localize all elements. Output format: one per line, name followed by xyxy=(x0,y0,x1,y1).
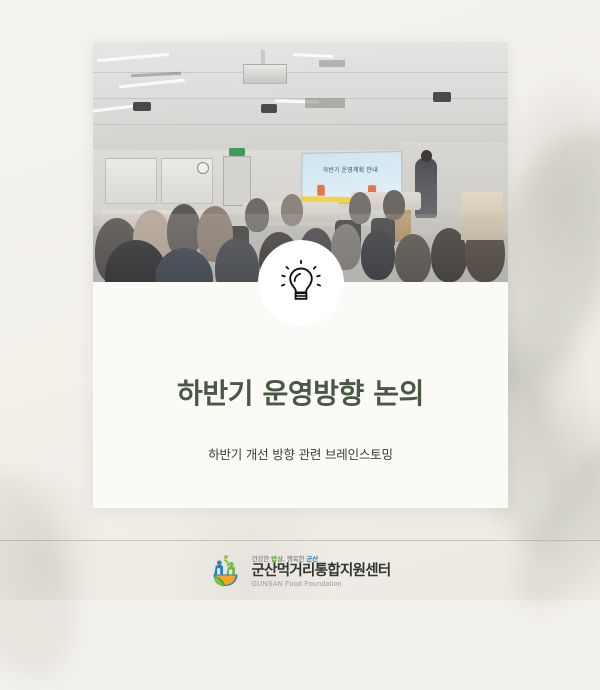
logo-tagline: 건강한 밥상, 행복한 군산 xyxy=(251,553,390,563)
ceiling-speaker-icon xyxy=(261,104,277,113)
presenter-head xyxy=(421,150,432,162)
exit-sign-icon xyxy=(229,148,245,156)
page-subtitle: 하반기 개선 방향 관련 브레인스토밍 xyxy=(208,444,393,463)
slide-title: 하반기 운영계획 안내 xyxy=(302,165,401,175)
wall-clock-icon xyxy=(197,162,209,174)
ceiling-speaker-icon xyxy=(433,92,451,102)
organization-name: 군산먹거리통합지원센터 xyxy=(251,564,390,579)
ceiling-speaker-icon xyxy=(133,102,151,111)
footer-logo: 건강한 밥상, 행복한 군산 군산먹거리통합지원센터 GUNSAN Food F… xyxy=(0,541,600,600)
lightbulb-icon xyxy=(278,260,324,306)
door xyxy=(223,156,251,206)
logo-text-block: 건강한 밥상, 행복한 군산 군산먹거리통합지원센터 GUNSAN Food F… xyxy=(251,553,390,587)
organization-english-name: GUNSAN Food Foundation xyxy=(251,581,390,588)
ceiling-projector xyxy=(243,64,287,84)
content-card: 하반기 운영계획 안내 xyxy=(93,42,508,508)
lightbulb-badge xyxy=(258,240,344,326)
window xyxy=(105,158,157,204)
page-title: 하반기 운영방향 논의 xyxy=(177,372,424,412)
gunsan-food-foundation-emblem xyxy=(209,554,242,588)
